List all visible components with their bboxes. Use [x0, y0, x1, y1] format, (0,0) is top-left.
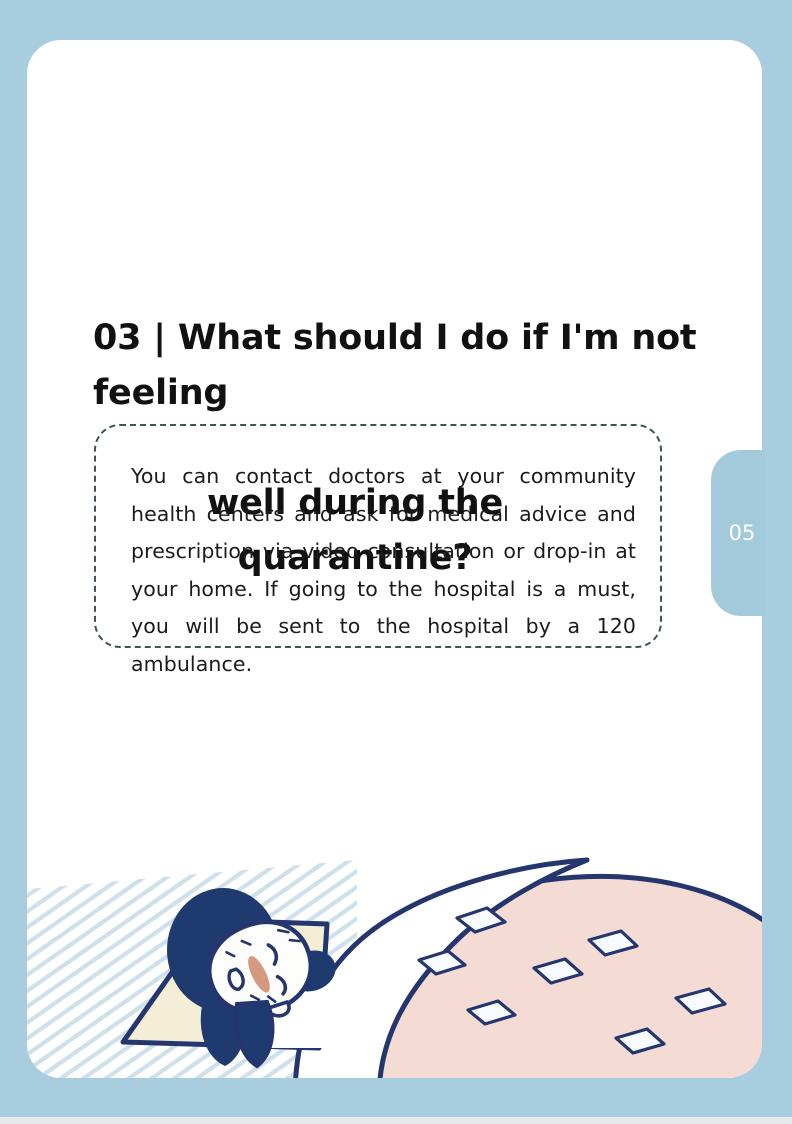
answer-box: You can contact doctors at your communit…	[94, 424, 662, 648]
answer-text: You can contact doctors at your communit…	[131, 458, 636, 683]
content-card: 03 | What should I do if I'm not feeling…	[27, 40, 762, 1078]
poster-page: 03 | What should I do if I'm not feeling…	[0, 0, 792, 1124]
page-title-line-1: 03 | What should I do if I'm not feeling	[93, 311, 703, 421]
footer-logos: 深圳市疾病预防控制中心 SHENZHEN CENTER FOR DISEASE …	[197, 1050, 757, 1078]
sick-person-in-bed-illustration	[27, 798, 762, 1078]
page-number-tab: 05	[711, 450, 765, 616]
bottom-edge-strip	[0, 1117, 792, 1124]
page-number-label: 05	[711, 450, 765, 616]
